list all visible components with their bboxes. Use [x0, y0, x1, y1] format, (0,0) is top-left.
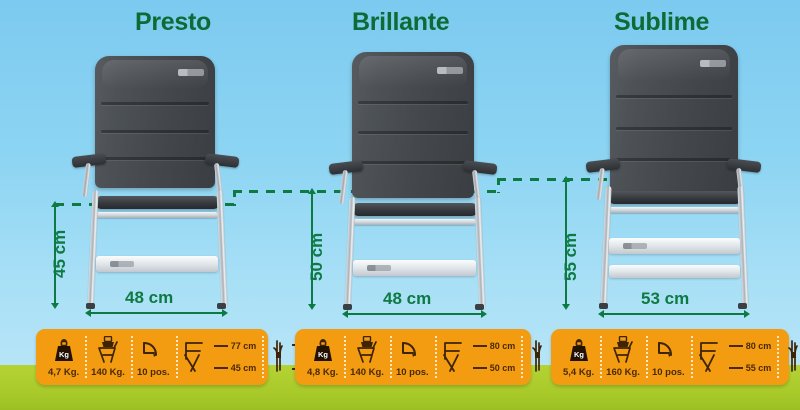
spec-profile-sublime: 80 cm 55 cm — [691, 332, 778, 382]
seat-presto — [95, 196, 220, 209]
height-arrow-up-brillante — [308, 188, 316, 194]
spec-positions-brillante: 10 pos. — [390, 332, 435, 382]
seat-rail-brillante — [353, 219, 476, 225]
front-leg-left-presto — [87, 190, 98, 308]
dim-back-height-row-brillante: 80 cm — [473, 341, 516, 351]
arm-post-left-sublime — [596, 168, 605, 200]
svg-text:Kg: Kg — [318, 350, 328, 359]
chair-max-load-icon — [95, 335, 121, 365]
recline-positions-icon — [399, 335, 425, 365]
cross-brace-presto — [96, 256, 218, 272]
arm-post-left-brillante — [339, 170, 348, 204]
foot-right-sublime — [738, 303, 747, 309]
chair-side-profile-icon — [697, 342, 727, 372]
seat-height-label-sublime: 55 cm — [561, 233, 581, 281]
front-leg-right-brillante — [475, 197, 486, 309]
leader-line — [729, 367, 743, 369]
cross-brace-brillante — [353, 260, 476, 276]
spec-load-sublime: 160 Kg. — [600, 332, 646, 382]
height-arrow-down-brillante — [308, 304, 316, 310]
cross-brace-lower-sublime — [609, 265, 740, 278]
width-label-presto: 48 cm — [125, 288, 173, 308]
width-arrow-right-sublime — [744, 310, 750, 318]
width-arrow-left-sublime — [598, 310, 604, 318]
front-leg-left-brillante — [345, 197, 356, 309]
dim-seat-height-row-sublime: 55 cm — [729, 363, 772, 373]
svg-text:Kg: Kg — [574, 350, 584, 359]
brand-logo-icon — [367, 265, 391, 271]
seat-height-step-riser-1 — [233, 190, 236, 206]
spec-profile-brillante: 80 cm 50 cm — [435, 332, 522, 382]
height-arrow-down-presto — [51, 303, 59, 309]
brand-logo-icon — [623, 243, 647, 249]
dim-back-height-row-sublime: 80 cm — [729, 341, 772, 351]
spec-weight-brillante: Kg 4,8 Kg. — [301, 332, 344, 382]
seat-height-label-presto: 45 cm — [50, 230, 70, 278]
brand-logo-icon — [110, 261, 134, 267]
backrest-sublime — [610, 45, 738, 197]
weight-kg-icon: Kg — [312, 335, 334, 365]
product-title-brillante: Brillante — [352, 8, 449, 37]
chair-folded-profile-icon — [268, 342, 290, 372]
width-arrow-right-brillante — [481, 310, 487, 318]
seat-height-step-riser-2 — [497, 178, 500, 193]
seat-rail-presto — [96, 212, 218, 218]
spec-positions-presto: 10 pos. — [131, 332, 176, 382]
weight-kg-icon: Kg — [53, 335, 75, 365]
chair-folded-profile-icon — [783, 342, 800, 372]
spec-panel-presto: Kg 4,7 Kg. 140 Kg. 10 pos. 77 cm — [36, 329, 268, 385]
dim-seat-height-row-presto: 45 cm — [214, 363, 257, 373]
cross-brace-upper-sublime — [609, 238, 740, 254]
leader-line — [473, 367, 487, 369]
leader-line — [473, 345, 487, 347]
recline-positions-icon — [655, 335, 681, 365]
chair-folded-profile-icon — [527, 342, 549, 372]
width-arrow-right-presto — [222, 309, 228, 317]
brand-logo-icon — [178, 69, 204, 76]
leader-line — [214, 345, 228, 347]
chair-max-load-icon — [354, 335, 380, 365]
spec-weight-sublime: Kg 5,4 Kg. — [557, 332, 600, 382]
spec-positions-sublime: 10 pos. — [646, 332, 691, 382]
height-arrow-down-sublime — [562, 304, 570, 310]
seat-brillante — [352, 203, 478, 216]
seat-sublime — [608, 191, 742, 204]
leader-line — [214, 367, 228, 369]
arm-post-left-presto — [82, 163, 91, 197]
spec-load-brillante: 140 Kg. — [344, 332, 390, 382]
chair-side-profile-icon — [441, 342, 471, 372]
illustration-canvas: Presto Brillante Sublime 45 cm — [0, 0, 800, 410]
spec-load-presto: 140 Kg. — [85, 332, 131, 382]
spec-panel-brillante: Kg 4,8 Kg. 140 Kg. 10 pos. 80 cm — [295, 329, 531, 385]
height-arrow-up-presto — [51, 201, 59, 207]
spec-folded-sublime: 115 cm 9,5 cm — [777, 332, 800, 382]
recline-positions-icon — [140, 335, 166, 365]
seat-rail-sublime — [609, 207, 740, 213]
height-arrow-up-sublime — [562, 176, 570, 182]
width-line-sublime — [603, 313, 746, 315]
brand-logo-icon — [437, 67, 463, 74]
backrest-brillante — [352, 52, 474, 198]
seat-height-label-brillante: 50 cm — [307, 233, 327, 281]
product-title-sublime: Sublime — [614, 8, 709, 37]
chair-max-load-icon — [610, 335, 636, 365]
width-line-brillante — [347, 313, 483, 315]
chair-side-profile-icon — [182, 342, 212, 372]
spec-panel-sublime: Kg 5,4 Kg. 160 Kg. 10 pos. 80 cm — [551, 329, 789, 385]
width-line-presto — [90, 312, 224, 314]
dim-seat-height-row-brillante: 50 cm — [473, 363, 516, 373]
product-title-presto: Presto — [135, 8, 211, 37]
dim-back-height-row-presto: 77 cm — [214, 341, 257, 351]
front-leg-right-presto — [216, 190, 227, 308]
foot-left-sublime — [599, 303, 608, 309]
width-arrow-left-presto — [85, 309, 91, 317]
width-label-brillante: 48 cm — [383, 289, 431, 309]
width-arrow-left-brillante — [342, 310, 348, 318]
leader-line — [729, 345, 743, 347]
svg-text:Kg: Kg — [59, 350, 69, 359]
brand-logo-icon — [700, 60, 726, 67]
spec-weight-presto: Kg 4,7 Kg. — [42, 332, 85, 382]
backrest-presto — [95, 56, 215, 188]
weight-kg-icon: Kg — [568, 335, 590, 365]
spec-profile-presto: 77 cm 45 cm — [176, 332, 263, 382]
width-label-sublime: 53 cm — [641, 289, 689, 309]
